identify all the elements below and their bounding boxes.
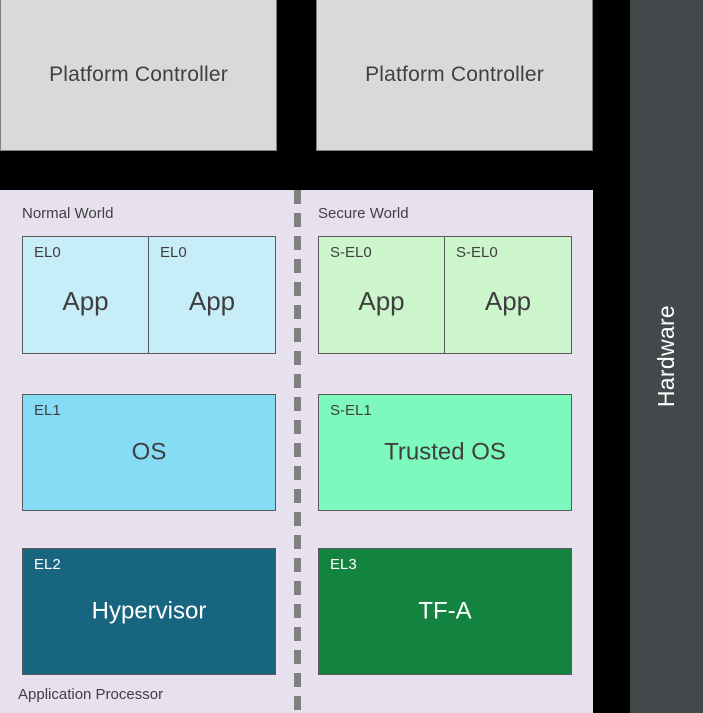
el0-app-title-2: App [149, 286, 275, 317]
el0-app-box-1: EL0 App [22, 236, 149, 354]
hardware-bar: Hardware [630, 0, 703, 713]
world-divider [294, 190, 301, 713]
application-processor-label: Application Processor [18, 686, 163, 703]
hardware-label: Hardware [653, 305, 680, 407]
sel0-app-title-1: App [319, 286, 444, 317]
sel1-trusted-os-box: S-EL1 Trusted OS [318, 394, 572, 511]
el1-os-tag: EL1 [34, 402, 61, 419]
el3-tfa-title: TF-A [319, 597, 571, 625]
sel0-app-title-2: App [445, 286, 571, 317]
el0-app-tag-2: EL0 [160, 244, 187, 261]
el2-hypervisor-box: EL2 Hypervisor [22, 548, 276, 675]
sel1-trusted-os-title: Trusted OS [319, 438, 571, 466]
diagram-canvas: Platform Controller Platform Controller … [0, 0, 703, 713]
sel0-app-box-2: S-EL0 App [444, 236, 572, 354]
normal-world-title: Normal World [22, 205, 113, 222]
platform-controller-box-2: Platform Controller [316, 0, 593, 151]
sel0-app-box-1: S-EL0 App [318, 236, 445, 354]
el3-tfa-box: EL3 TF-A [318, 548, 572, 675]
platform-controller-box-1: Platform Controller [0, 0, 277, 151]
secure-world-title: Secure World [318, 205, 409, 222]
sel1-trusted-os-tag: S-EL1 [330, 402, 372, 419]
application-processor-panel: Normal World Secure World EL0 App EL0 Ap… [0, 190, 593, 713]
el3-tfa-tag: EL3 [330, 556, 357, 573]
el0-app-title-1: App [23, 286, 148, 317]
sel0-app-tag-1: S-EL0 [330, 244, 372, 261]
el0-app-box-2: EL0 App [148, 236, 276, 354]
platform-controller-label-1: Platform Controller [49, 63, 228, 87]
el1-os-title: OS [23, 438, 275, 466]
platform-controller-label-2: Platform Controller [365, 63, 544, 87]
el2-hypervisor-tag: EL2 [34, 556, 61, 573]
el2-hypervisor-title: Hypervisor [23, 597, 275, 625]
sel0-app-tag-2: S-EL0 [456, 244, 498, 261]
el1-os-box: EL1 OS [22, 394, 276, 511]
el0-app-tag-1: EL0 [34, 244, 61, 261]
